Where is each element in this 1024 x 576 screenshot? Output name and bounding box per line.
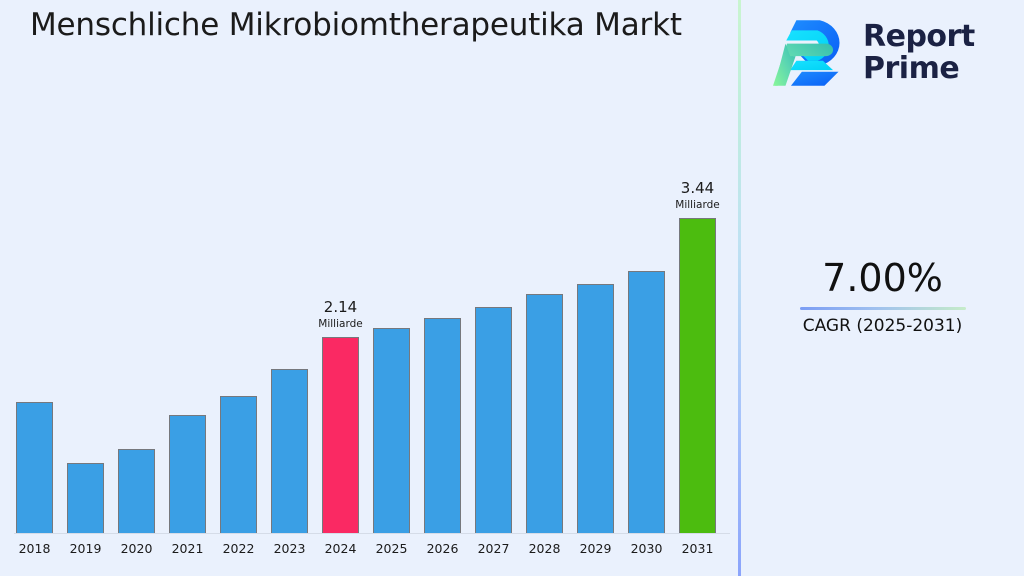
cagr-divider-rule <box>800 307 966 310</box>
chart-panel: Menschliche Mikrobiomtherapeutika Markt … <box>0 0 739 576</box>
x-axis-tick-2022: 2022 <box>213 541 265 557</box>
bar-value-label-2024: 2.14Milliarde <box>296 298 386 331</box>
x-axis-tick-2025: 2025 <box>366 541 418 557</box>
bar-value-2024: 2.14 <box>296 298 386 317</box>
report-prime-logo-icon <box>773 17 851 89</box>
bar-2027[interactable] <box>475 307 512 533</box>
bar-2022[interactable] <box>220 396 257 533</box>
bar-2019[interactable] <box>67 463 104 533</box>
summary-panel: Report Prime 7.00% CAGR (2025-2031) <box>741 0 1024 576</box>
bar-unit-2031: Milliarde <box>653 198 743 212</box>
bar-value-label-2031: 3.44Milliarde <box>653 179 743 212</box>
x-axis-tick-2019: 2019 <box>60 541 112 557</box>
x-axis-tick-2020: 2020 <box>111 541 163 557</box>
brand-lockup: Report Prime <box>773 10 1003 96</box>
bar-2020[interactable] <box>118 449 155 533</box>
bar-2018[interactable] <box>16 402 53 533</box>
brand-name-line1: Report <box>863 21 975 53</box>
x-axis-tick-2027: 2027 <box>468 541 520 557</box>
bar-unit-2024: Milliarde <box>296 317 386 331</box>
infographic-canvas: Menschliche Mikrobiomtherapeutika Markt … <box>0 0 1024 576</box>
brand-name: Report Prime <box>863 21 975 85</box>
bar-2029[interactable] <box>577 284 614 533</box>
bar-2031[interactable] <box>679 218 716 533</box>
x-axis-line <box>14 533 730 534</box>
x-axis-tick-2024: 2024 <box>315 541 367 557</box>
cagr-caption: CAGR (2025-2031) <box>741 315 1024 337</box>
x-axis-tick-2026: 2026 <box>417 541 469 557</box>
cagr-block: 7.00% CAGR (2025-2031) <box>741 255 1024 337</box>
bar-value-2031: 3.44 <box>653 179 743 198</box>
bar-2025[interactable] <box>373 328 410 533</box>
bar-2024[interactable] <box>322 337 359 533</box>
bar-2030[interactable] <box>628 271 665 533</box>
x-axis-tick-2031: 2031 <box>672 541 724 557</box>
bar-2026[interactable] <box>424 318 461 533</box>
cagr-value: 7.00% <box>741 255 1024 301</box>
x-axis-tick-2021: 2021 <box>162 541 214 557</box>
bar-2028[interactable] <box>526 294 563 533</box>
bar-2023[interactable] <box>271 369 308 533</box>
bar-2021[interactable] <box>169 415 206 533</box>
bar-chart-plot: 2018201920202021202220232.14Milliarde202… <box>0 0 739 576</box>
brand-name-line2: Prime <box>863 53 975 85</box>
x-axis-tick-2023: 2023 <box>264 541 316 557</box>
x-axis-tick-2028: 2028 <box>519 541 571 557</box>
x-axis-tick-2029: 2029 <box>570 541 622 557</box>
x-axis-tick-2030: 2030 <box>621 541 673 557</box>
x-axis-tick-2018: 2018 <box>9 541 61 557</box>
